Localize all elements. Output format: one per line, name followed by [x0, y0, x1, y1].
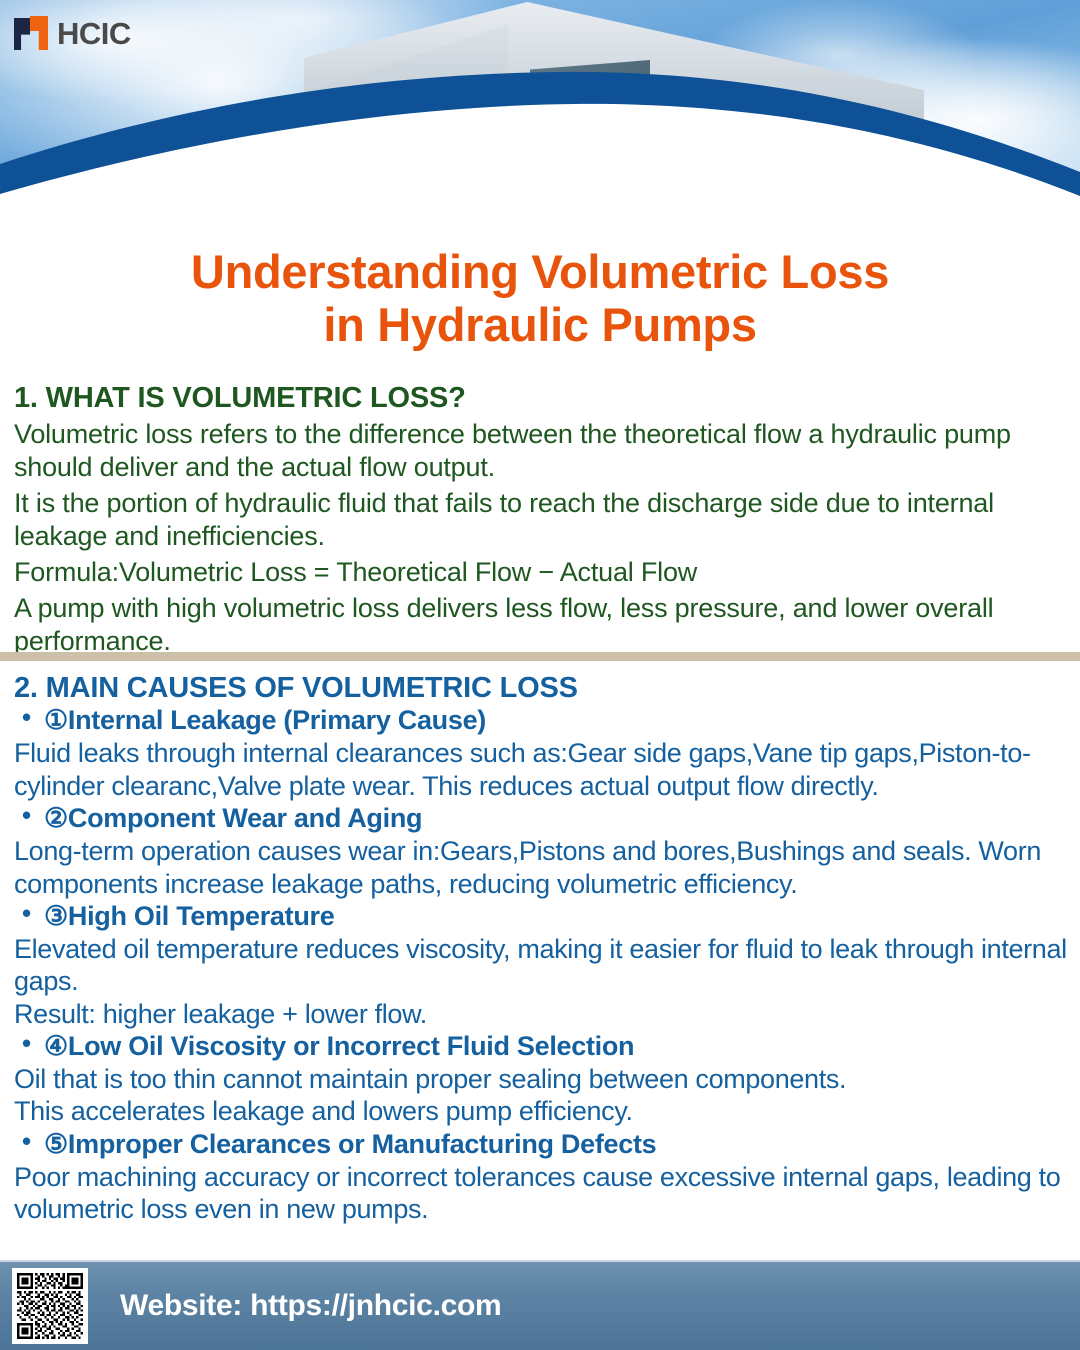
hcic-logo[interactable]: HCIC — [14, 16, 131, 50]
list-item-body: Oil that is too thin cannot maintain pro… — [14, 1063, 1070, 1128]
footer-bar: Website: https://jnhcic.com — [0, 1260, 1080, 1350]
section-divider — [0, 652, 1080, 661]
list-item-body: Elevated oil temperature reduces viscosi… — [14, 933, 1070, 1030]
list-item-body: Fluid leaks through internal clearances … — [14, 737, 1070, 802]
section-1-paragraph-3: Formula:Volumetric Loss = Theoretical Fl… — [14, 556, 1070, 588]
hcic-logo-mark-icon — [14, 16, 48, 50]
page-title: Understanding Volumetric Loss in Hydraul… — [0, 246, 1080, 351]
list-item-bullet: ③High Oil Temperature — [14, 900, 1070, 933]
page-title-line-2: in Hydraulic Pumps — [0, 299, 1080, 352]
qr-code-icon[interactable] — [12, 1268, 88, 1344]
list-item-bullet: ①Internal Leakage (Primary Cause) — [14, 704, 1070, 737]
section-2-heading: 2. MAIN CAUSES OF VOLUMETRIC LOSS — [14, 672, 1070, 704]
section-1-heading: 1. WHAT IS VOLUMETRIC LOSS? — [14, 382, 1070, 414]
list-item-bullet: ④Low Oil Viscosity or Incorrect Fluid Se… — [14, 1030, 1070, 1063]
section-1-paragraph-4: A pump with high volumetric loss deliver… — [14, 592, 1070, 657]
hcic-logo-text: HCIC — [57, 18, 131, 49]
section-main-causes: 2. MAIN CAUSES OF VOLUMETRIC LOSS ①Inter… — [14, 672, 1070, 1225]
blue-wave-divider — [0, 68, 1080, 218]
website-label[interactable]: Website: https://jnhcic.com — [120, 1289, 501, 1323]
list-item-body: Poor machining accuracy or incorrect tol… — [14, 1161, 1070, 1226]
list-item-body: Long-term operation causes wear in:Gears… — [14, 835, 1070, 900]
section-1-paragraph-1: Volumetric loss refers to the difference… — [14, 418, 1070, 483]
hero-banner: HCIC 华辰重工 HCIC — [0, 0, 1080, 218]
section-1-paragraph-2: It is the portion of hydraulic fluid tha… — [14, 487, 1070, 552]
list-item-bullet: ②Component Wear and Aging — [14, 802, 1070, 835]
page-title-line-1: Understanding Volumetric Loss — [0, 246, 1080, 299]
list-item-bullet: ⑤Improper Clearances or Manufacturing De… — [14, 1128, 1070, 1161]
section-what-is-volumetric-loss: 1. WHAT IS VOLUMETRIC LOSS? Volumetric l… — [14, 382, 1070, 657]
